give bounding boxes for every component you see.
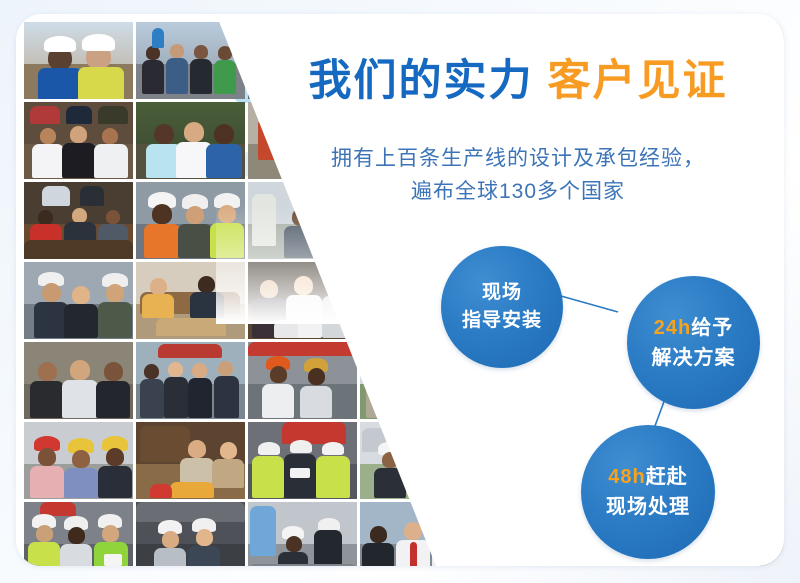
content-card: 我们的实力客户见证 拥有上百条生产线的设计及承包经验， 遍布全球130多个国家 … [16, 14, 784, 566]
photo-grid [24, 22, 784, 566]
photo-cell [136, 102, 245, 179]
photo-cell [136, 342, 245, 419]
photo-cell [472, 22, 581, 99]
photo-cell [472, 262, 581, 339]
photo-cell [24, 422, 133, 499]
photo-cell [584, 182, 693, 259]
photo-cell [24, 22, 133, 99]
photo-cell [472, 502, 581, 566]
promo-banner: 我们的实力客户见证 拥有上百条生产线的设计及承包经验， 遍布全球130多个国家 … [0, 0, 800, 583]
photo-cell [696, 182, 784, 259]
photo-cell [584, 22, 693, 99]
photo-cell [696, 22, 784, 99]
photo-cell [696, 262, 784, 339]
photo-cell [696, 502, 784, 566]
photo-cell [360, 422, 469, 499]
photo-cell [360, 22, 469, 99]
photo-cell [696, 342, 784, 419]
photo-cell [136, 22, 245, 99]
photo-cell [24, 182, 133, 259]
photo-cell [360, 182, 469, 259]
photo-cell [248, 342, 357, 419]
photo-cell [472, 182, 581, 259]
photo-cell [360, 502, 469, 566]
photo-cell [360, 342, 469, 419]
photo-cell [584, 262, 693, 339]
photo-cell [136, 262, 245, 339]
photo-cell [24, 102, 133, 179]
photo-cell [584, 422, 693, 499]
photo-cell [24, 342, 133, 419]
photo-cell [360, 262, 469, 339]
photo-cell [472, 102, 581, 179]
photo-cell [584, 502, 693, 566]
photo-cell [24, 262, 133, 339]
photo-cell [584, 102, 693, 179]
photo-cell [696, 422, 784, 499]
photo-cell [696, 102, 784, 179]
photo-cell [248, 502, 357, 566]
photo-cell [584, 342, 693, 419]
photo-cell [136, 502, 245, 566]
photo-cell [472, 342, 581, 419]
photo-cell [360, 102, 469, 179]
photo-cell [472, 422, 581, 499]
photo-cell [136, 422, 245, 499]
photo-cell [24, 502, 133, 566]
photo-cell [248, 102, 357, 179]
photo-cell [136, 182, 245, 259]
photo-cell [248, 262, 357, 339]
photo-cell [248, 22, 357, 99]
photo-cell [248, 422, 357, 499]
photo-cell [248, 182, 357, 259]
